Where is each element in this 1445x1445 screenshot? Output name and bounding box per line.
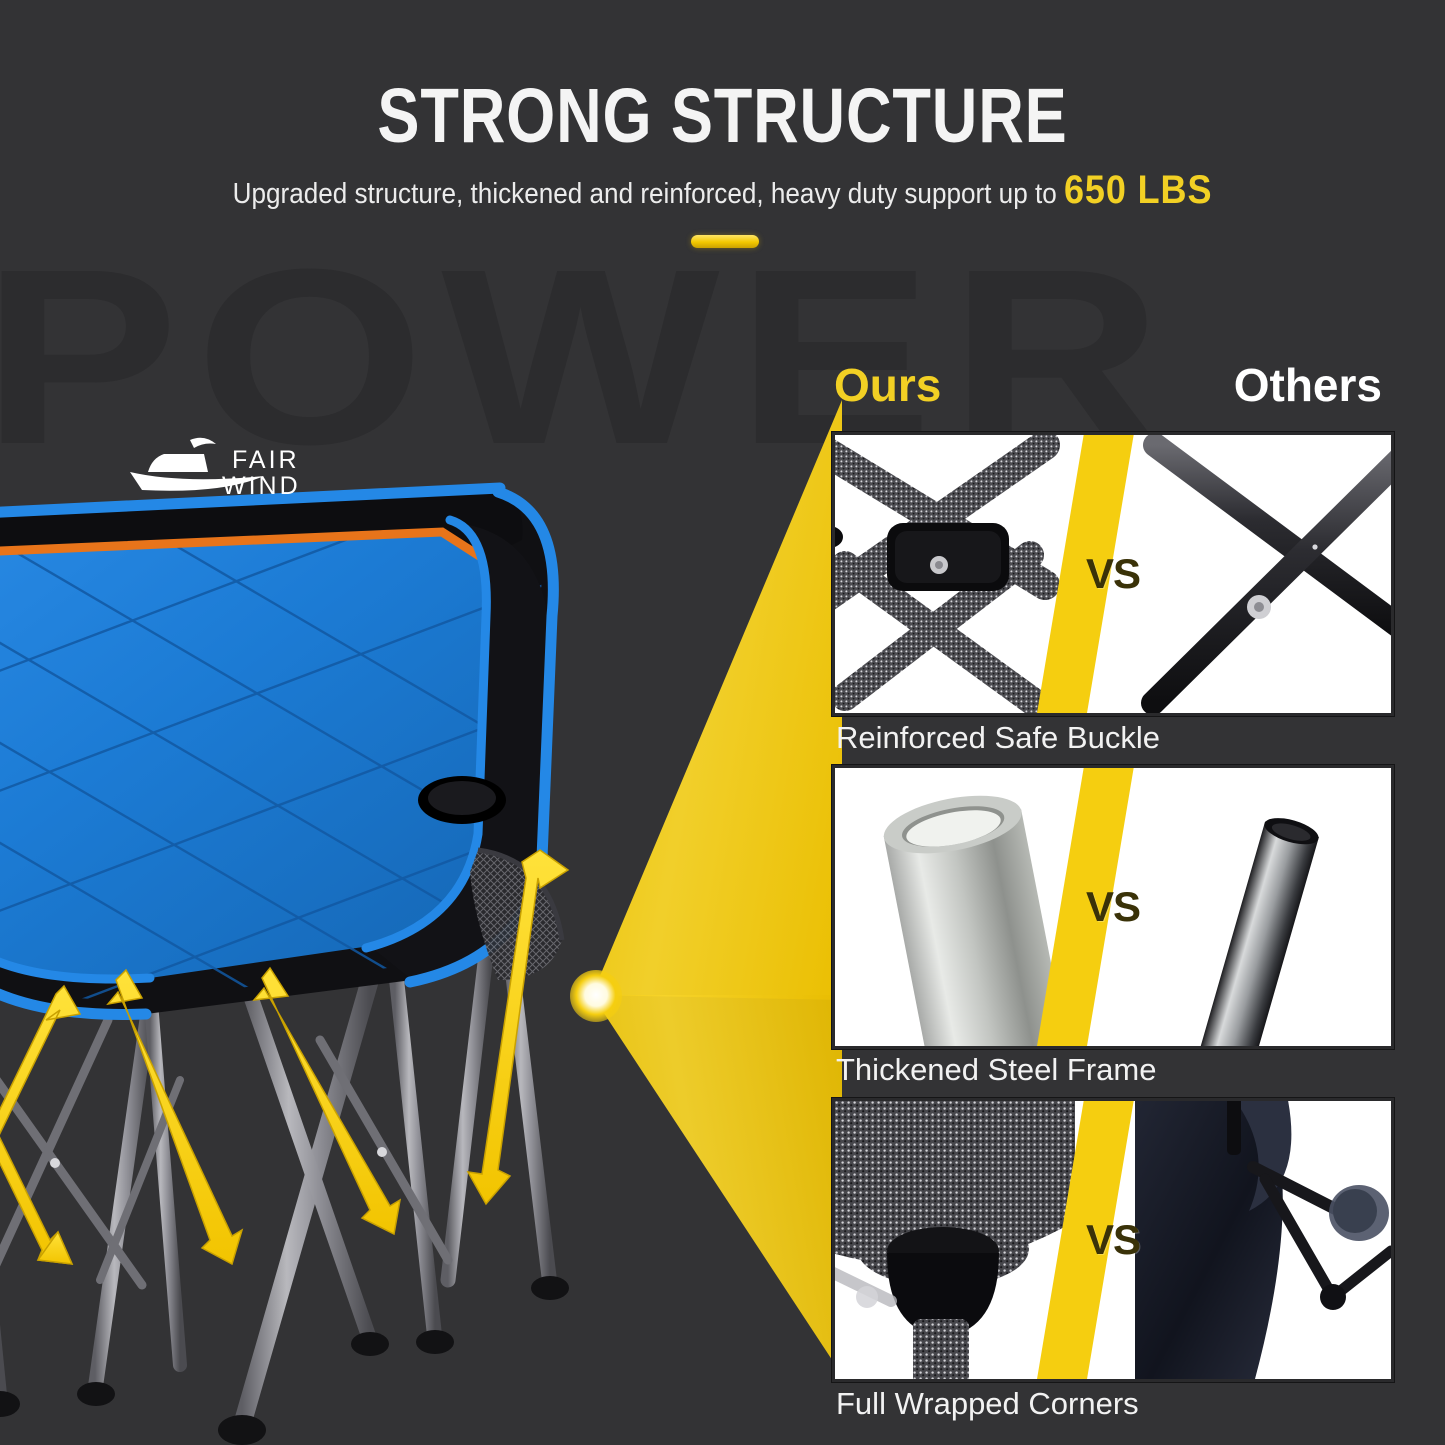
vs-label-1: VS (1086, 553, 1140, 595)
comparison-panel-wrapped-corners: VS (832, 1098, 1394, 1382)
page-subtitle: Upgraded structure, thickened and reinfo… (72, 170, 1373, 210)
weight-capacity-highlight: 650 LBS (1064, 168, 1212, 212)
ours-label: Ours (834, 362, 941, 408)
comparison-header: Ours Others (820, 362, 1390, 422)
svg-text:FAIR: FAIR (232, 446, 300, 474)
panel-caption-steel-frame: Thickened Steel Frame (836, 1054, 1156, 1085)
brand-logo: FAIR WIND (130, 438, 301, 500)
panel-caption-wrapped-corners: Full Wrapped Corners (836, 1388, 1139, 1419)
chair-seat-fabric: FAIR WIND (0, 380, 610, 1230)
comparison-panel-buckle: VS (832, 432, 1394, 716)
others-label: Others (1234, 362, 1382, 408)
cup-holder (418, 776, 506, 824)
subtitle-text: Upgraded structure, thickened and reinfo… (233, 178, 1064, 210)
title-divider (691, 235, 759, 248)
vs-label-3: VS (1086, 1219, 1140, 1261)
panel-caption-buckle: Reinforced Safe Buckle (836, 722, 1160, 753)
svg-text:WIND: WIND (222, 472, 301, 500)
page-title: STRONG STRUCTURE (130, 78, 1315, 155)
vs-label-2: VS (1086, 886, 1140, 928)
callout-origin-dot (570, 970, 622, 1022)
comparison-panel-steel-frame: VS (832, 765, 1394, 1049)
marketing-banner: POWER STRONG STRUCTURE Upgraded structur… (0, 0, 1445, 1445)
product-image-camping-chair: FAIR WIND (0, 380, 710, 1445)
